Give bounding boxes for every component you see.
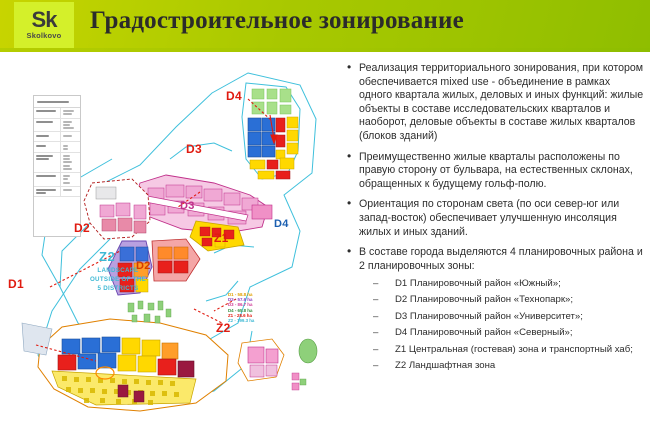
map-legend bbox=[33, 95, 81, 237]
legend-row-label bbox=[34, 173, 61, 186]
district-tag-d2: D2 bbox=[136, 260, 151, 272]
map-marker-d3[interactable]: D3 bbox=[186, 142, 202, 156]
sub-item-d2: D2 Планировочный район «Технопарк»; bbox=[359, 294, 645, 306]
sub-item-z1: Z1 Центральная (гостевая) зона и транспо… bbox=[359, 344, 645, 356]
zone-label-z2: Z2 bbox=[99, 249, 115, 264]
legend-row bbox=[34, 187, 80, 198]
bullet-text: В составе города выделяются 4 планировоч… bbox=[359, 246, 643, 272]
legend-row-label bbox=[34, 153, 61, 172]
legend-row-value bbox=[61, 173, 80, 186]
bullet-list: Реализация территориального зонирования,… bbox=[345, 62, 645, 372]
legend-row bbox=[34, 153, 80, 173]
zoning-map: D1 D2 D3 D4 Z1 Z2 Z2 LANDSCAPE OUTSIDE O… bbox=[0, 55, 340, 436]
area-summary-table: D1 - 58.8 ha D2 - 57.6 ha D3 - 86.7 ha D… bbox=[228, 292, 254, 323]
area-value: 199.3 ha bbox=[237, 318, 254, 323]
legend-row bbox=[34, 173, 80, 187]
map-marker-z1[interactable]: Z1 bbox=[214, 231, 229, 245]
legend-row-label bbox=[34, 142, 61, 152]
sub-item-d4: D4 Планировочный район «Северный»; bbox=[359, 327, 645, 339]
legend-row-label bbox=[34, 119, 61, 132]
bullet-item: Реализация территориального зонирования,… bbox=[345, 62, 645, 144]
legend-title-text bbox=[37, 101, 69, 103]
sub-list: D1 Планировочный район «Южный»; D2 Плани… bbox=[359, 278, 645, 373]
logo-wordmark: Skolkovo bbox=[27, 31, 62, 40]
sub-item-z2: Z2 Ландшафтная зона bbox=[359, 360, 645, 372]
skolkovo-logo: Sk Skolkovo bbox=[14, 2, 74, 48]
legend-row-value bbox=[61, 187, 80, 197]
legend-row-value bbox=[61, 142, 80, 152]
map-marker-d1[interactable]: D1 bbox=[8, 277, 24, 291]
logo-mark: Sk bbox=[32, 10, 57, 30]
district-tag-d3: D3 bbox=[180, 200, 195, 212]
sub-item-d3: D3 Планировочный район «Университет»; bbox=[359, 311, 645, 323]
legend-row-value bbox=[61, 108, 80, 118]
sub-item-d1: D1 Планировочный район «Южный»; bbox=[359, 278, 645, 290]
bullet-item: Преимущественно жилые кварталы расположе… bbox=[345, 151, 645, 192]
header-underline bbox=[0, 48, 650, 52]
bullet-item: В составе города выделяются 4 планировоч… bbox=[345, 246, 645, 372]
legend-row bbox=[34, 142, 80, 153]
legend-row bbox=[34, 119, 80, 133]
legend-title bbox=[34, 96, 80, 108]
page-title: Градостроительное зонирование bbox=[90, 7, 464, 35]
map-marker-d4[interactable]: D4 bbox=[226, 89, 242, 103]
legend-row-value bbox=[61, 153, 80, 172]
zone-caption-line-2: OUTSIDE OF THE bbox=[76, 276, 160, 284]
area-row-z2: Z2 - 199.3 ha bbox=[228, 318, 254, 323]
legend-row-label bbox=[34, 132, 61, 141]
district-tag-d4: D4 bbox=[274, 218, 289, 230]
bullet-item: Ориентация по сторонам света (по оси сев… bbox=[345, 198, 645, 239]
legend-row-label bbox=[34, 187, 61, 197]
legend-row-label bbox=[34, 108, 61, 118]
legend-row-value bbox=[61, 132, 80, 141]
map-marker-d2[interactable]: D2 bbox=[74, 221, 90, 235]
legend-row-value bbox=[61, 119, 80, 132]
zone-caption-line-3: 5 DISTRICTS bbox=[76, 285, 160, 293]
area-key: Z2 - bbox=[228, 318, 236, 323]
legend-row bbox=[34, 132, 80, 142]
content-panel: Реализация территориального зонирования,… bbox=[345, 62, 645, 379]
legend-row bbox=[34, 108, 80, 119]
